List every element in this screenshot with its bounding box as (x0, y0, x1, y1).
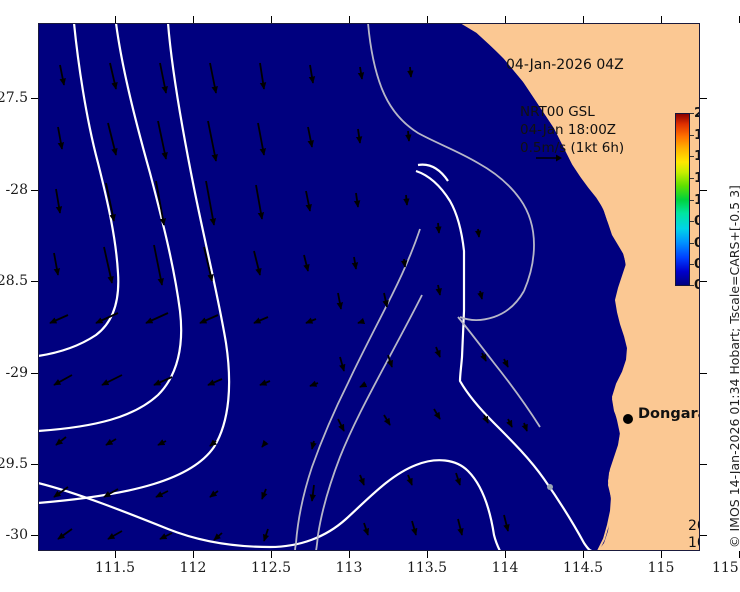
city-marker-dot (623, 414, 633, 424)
colorbar-tick-label: 1.5 (694, 148, 700, 164)
timestamp-label: 04-Jan-2026 04Z (506, 57, 624, 73)
scale-label-1000m: 1000m (688, 535, 700, 551)
x-tick-label: 115 (648, 560, 675, 576)
x-tick-label: 113.5 (407, 560, 447, 576)
colorbar-tick-label: 0.75 (694, 213, 700, 229)
colorbar-tick-label: 1.25 (694, 170, 700, 186)
colorbar-tick-label: 1.75 (694, 127, 700, 143)
depth-scale-legend: 200m 1000m (688, 518, 700, 551)
x-tick-label: 112 (180, 560, 207, 576)
product-line-1: NRT00 GSL (520, 104, 595, 120)
x-tick-label: 115.5 (712, 560, 740, 576)
product-annotation: NRT00 GSL04-Jan 18:00Z0.5m/s (1kt 6h) (520, 103, 624, 157)
colorbar-tick-label: 1 (694, 192, 700, 208)
y-tick-label: -27.5 (0, 90, 28, 106)
x-tick-label: 114 (492, 560, 519, 576)
colorbar-tick-label: 0 (694, 277, 700, 293)
y-tick-label: -28.5 (0, 273, 28, 289)
colorbar-tick-label: 0.25 (694, 256, 700, 272)
reference-vector-arrow (535, 153, 563, 163)
colorbar-tick-label: 0.5 (694, 235, 700, 251)
y-tick-label: -29 (5, 365, 28, 381)
y-tick-label: -28 (5, 182, 28, 198)
x-tick-label: 113 (336, 560, 363, 576)
colorbar[interactable] (675, 113, 690, 286)
x-tick-label: 111.5 (95, 560, 135, 576)
map-figure: 04-Jan-2026 04Z NRT00 GSL04-Jan 18:00Z0.… (0, 0, 740, 592)
colorbar-tick-label: 2 (694, 105, 700, 121)
product-line-2: 04-Jan 18:00Z (520, 122, 616, 138)
map-canvas[interactable]: 04-Jan-2026 04Z NRT00 GSL04-Jan 18:00Z0.… (38, 23, 700, 551)
scale-label-200m: 200m (688, 518, 700, 535)
credit-text: © IMOS 14-Jan-2026 01:34 Hobart; Tscale=… (727, 185, 740, 548)
y-tick-label: -29.5 (0, 456, 28, 472)
x-tick-label: 114.5 (563, 560, 603, 576)
quiver-group (50, 63, 527, 541)
y-tick-label: -30 (5, 527, 28, 543)
x-tick-label: 112.5 (251, 560, 291, 576)
city-label: Dongara (638, 406, 700, 422)
